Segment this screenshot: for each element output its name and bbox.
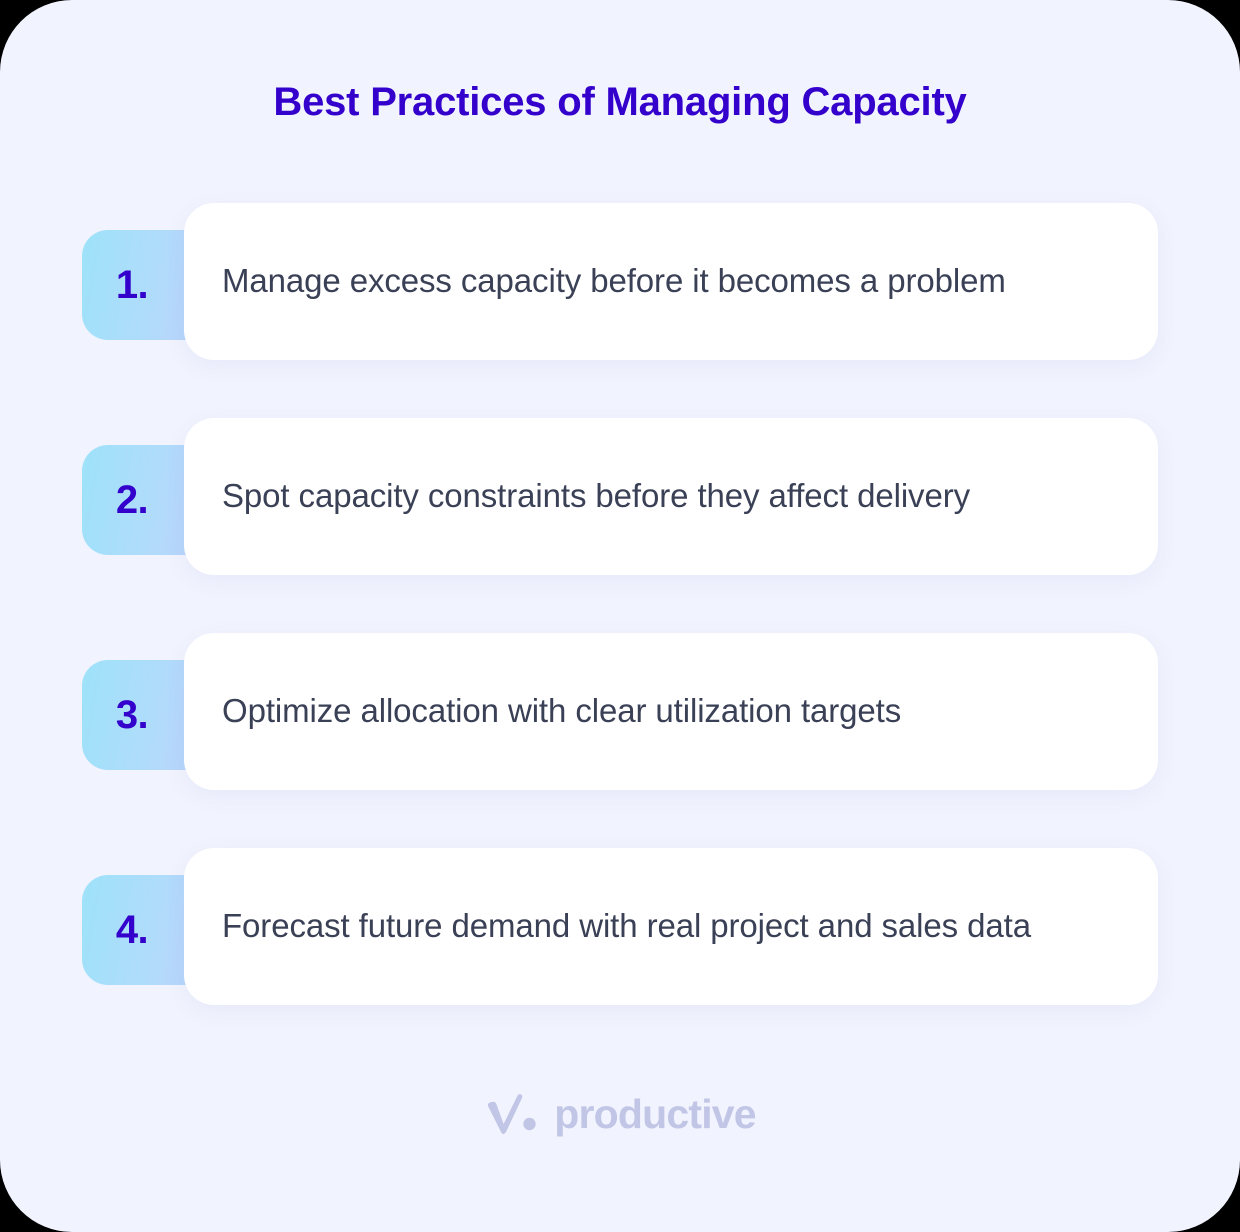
list-item-card: Forecast future demand with real project… bbox=[184, 848, 1158, 1005]
best-practices-list: 1. Manage excess capacity before it beco… bbox=[0, 203, 1240, 1063]
list-item-card: Spot capacity constraints before they af… bbox=[184, 418, 1158, 575]
list-item: 3. Optimize allocation with clear utiliz… bbox=[0, 633, 1240, 790]
list-item: 4. Forecast future demand with real proj… bbox=[0, 848, 1240, 1005]
list-item-card: Optimize allocation with clear utilizati… bbox=[184, 633, 1158, 790]
list-item: 2. Spot capacity constraints before they… bbox=[0, 418, 1240, 575]
brand-logo-text: productive bbox=[554, 1094, 756, 1135]
list-item-text: Spot capacity constraints before they af… bbox=[184, 473, 1016, 520]
list-item-number: 2. bbox=[82, 445, 182, 555]
list-item-number: 3. bbox=[82, 660, 182, 770]
list-item-number: 4. bbox=[82, 875, 182, 985]
infographic-canvas: Best Practices of Managing Capacity 1. M… bbox=[0, 0, 1240, 1232]
list-item-card: Manage excess capacity before it becomes… bbox=[184, 203, 1158, 360]
page-title: Best Practices of Managing Capacity bbox=[0, 78, 1240, 126]
list-item-number: 1. bbox=[82, 230, 182, 340]
list-item-text: Optimize allocation with clear utilizati… bbox=[184, 688, 947, 735]
list-item-text: Manage excess capacity before it becomes… bbox=[184, 258, 1052, 305]
list-item-text: Forecast future demand with real project… bbox=[184, 903, 1077, 950]
list-item: 1. Manage excess capacity before it beco… bbox=[0, 203, 1240, 360]
brand-logo: productive bbox=[0, 1092, 1240, 1136]
checkmark-dot-icon bbox=[484, 1092, 540, 1136]
